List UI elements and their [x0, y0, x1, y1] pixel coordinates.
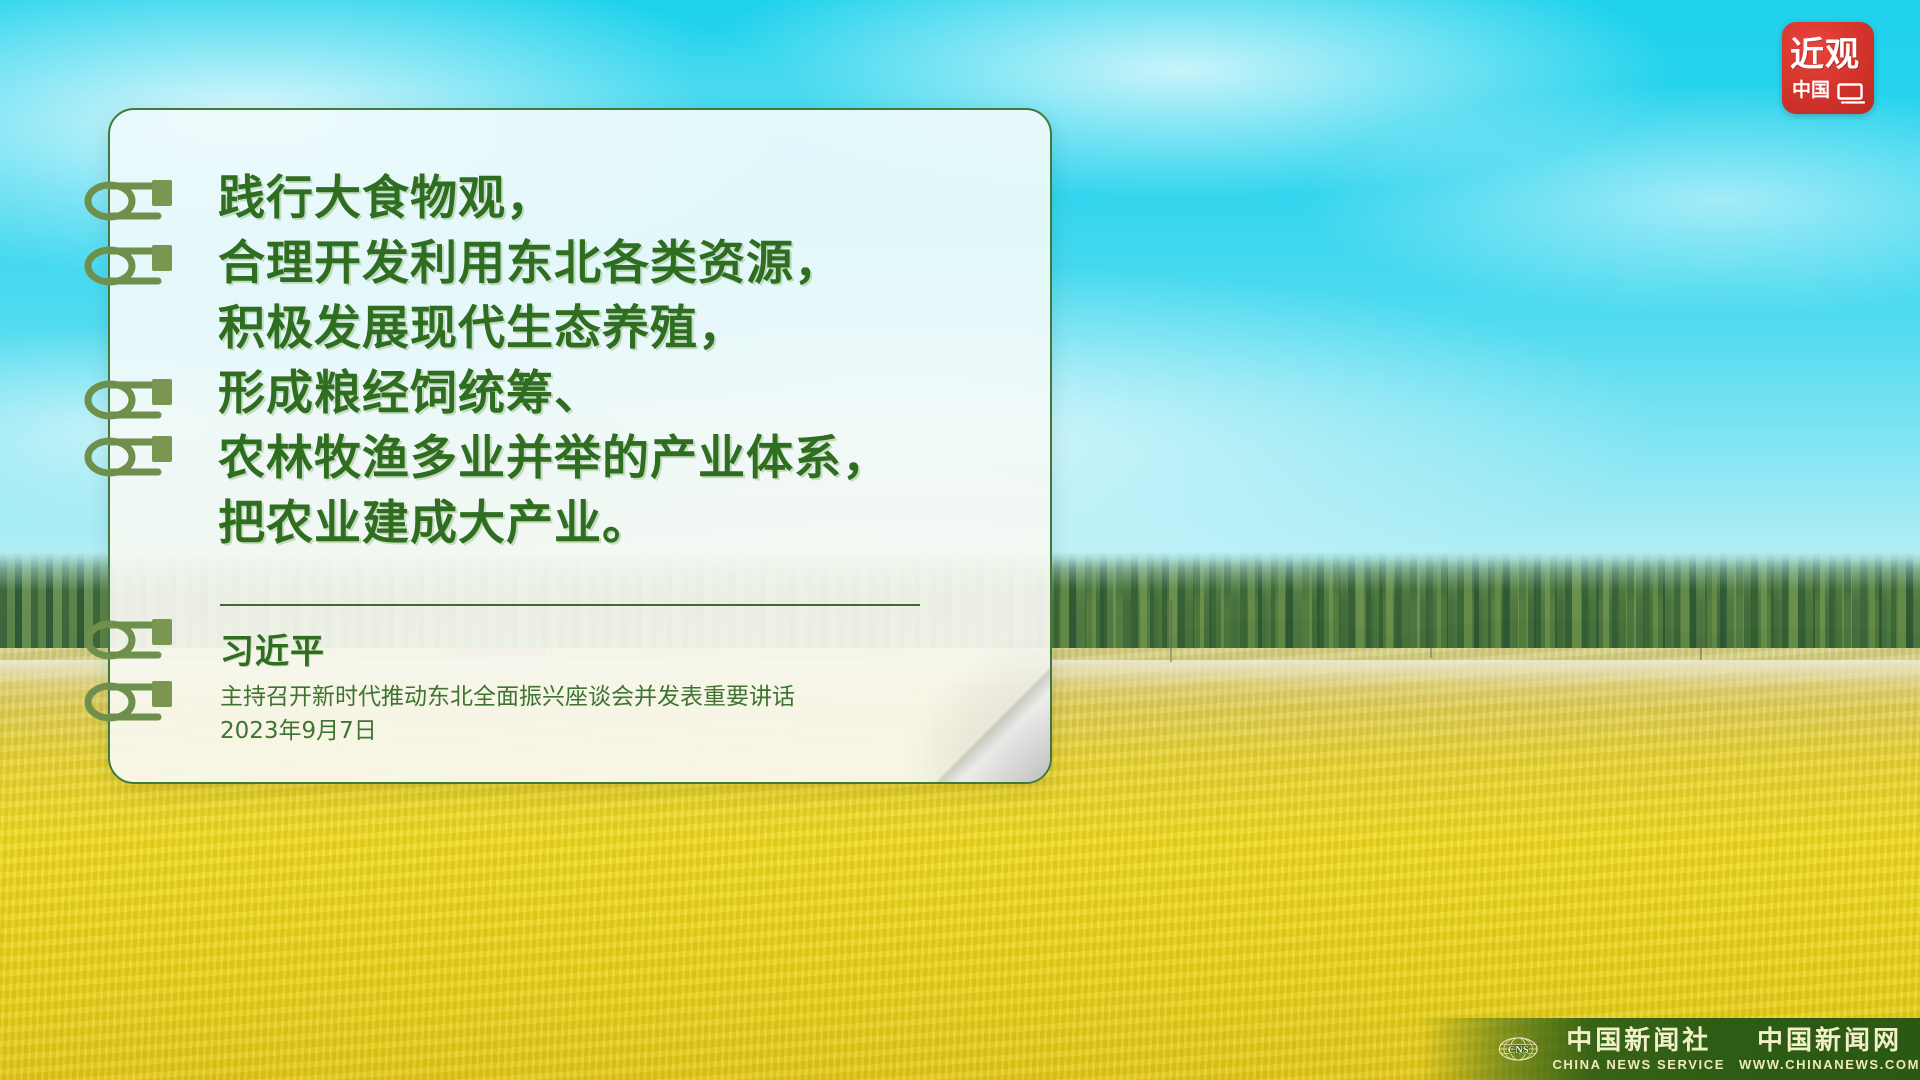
jinguan-zhongguo-logo[interactable]: 近观 中国: [1782, 22, 1874, 114]
site-brand[interactable]: 中国新闻网 WWW.CHINANEWS.COM: [1739, 1026, 1920, 1073]
cns-globe-icon: CNS: [1498, 1029, 1538, 1069]
site-url: WWW.CHINANEWS.COM: [1739, 1056, 1920, 1073]
agency-brand: 中国新闻社 CHINA NEWS SERVICE: [1552, 1026, 1725, 1073]
logo-main-text: 近观: [1790, 32, 1866, 78]
quote-card: 践行大食物观， 合理开发利用东北各类资源， 积极发展现代生态养殖， 形成粮经饲统…: [108, 108, 1052, 784]
tv-screen-icon: [1837, 83, 1867, 105]
attribution-divider: [220, 604, 920, 606]
page-curl-corner: [934, 666, 1052, 784]
quote-line: 把农业建成大产业。: [218, 491, 1008, 556]
quote-line: 形成粮经饲统筹、: [218, 361, 1008, 426]
logo-sub-text: 中国: [1792, 78, 1836, 102]
occasion-text: 主持召开新时代推动东北全面振兴座谈会并发表重要讲话: [220, 680, 795, 714]
quote-line: 积极发展现代生态养殖，: [218, 296, 1008, 361]
quote-line: 践行大食物观，: [218, 166, 1008, 231]
background-utility-poles: [1100, 600, 1920, 690]
site-name-cn: 中国新闻网: [1757, 1026, 1902, 1056]
quote-line: 合理开发利用东北各类资源，: [218, 231, 1008, 296]
agency-name-cn: 中国新闻社: [1566, 1026, 1711, 1056]
quote-line: 农林牧渔多业并举的产业体系，: [218, 426, 1008, 491]
speech-date: 2023年9月7日: [220, 714, 377, 748]
svg-text:CNS: CNS: [1508, 1045, 1529, 1056]
poster-stage: 近观 中国 践行大食物观， 合理开发利用东北各类资源， 积极发展现代生态养殖， …: [0, 0, 1920, 1080]
footer-brand-bar: CNS 中国新闻社 CHINA NEWS SERVICE 中国新闻网 WWW.C…: [1420, 1018, 1920, 1080]
agency-name-en: CHINA NEWS SERVICE: [1552, 1056, 1725, 1073]
quote-block: 践行大食物观， 合理开发利用东北各类资源， 积极发展现代生态养殖， 形成粮经饲统…: [218, 166, 1008, 556]
speaker-name: 习近平: [220, 630, 325, 674]
